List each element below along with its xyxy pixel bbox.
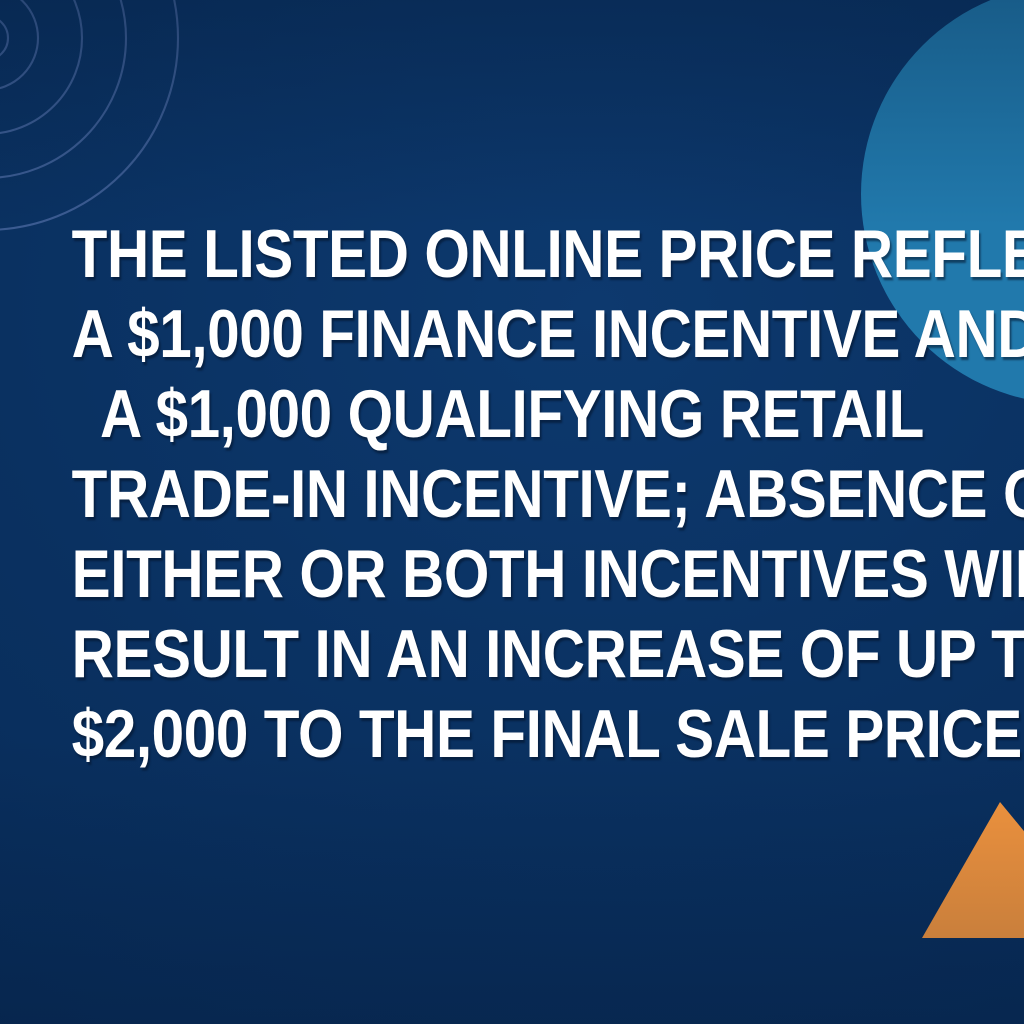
disclaimer-line-2: A $1,000 FINANCE INCENTIVE AND: [72, 294, 953, 374]
disclaimer-line-1: THE LISTED ONLINE PRICE REFLECTS: [72, 214, 953, 294]
disclaimer-line-6: RESULT IN AN INCREASE OF UP TO: [72, 614, 953, 694]
disclaimer-line-7: $2,000 TO THE FINAL SALE PRICE.: [72, 694, 953, 774]
accent-triangle-decoration: [922, 800, 1024, 938]
disclaimer-headline: THE LISTED ONLINE PRICE REFLECTS A $1,00…: [72, 214, 953, 774]
disclaimer-line-4: TRADE-IN INCENTIVE; ABSENCE OF: [72, 454, 953, 534]
disclaimer-line-3: A $1,000 QUALIFYING RETAIL: [72, 374, 953, 454]
disclaimer-graphic: THE LISTED ONLINE PRICE REFLECTS A $1,00…: [0, 0, 1024, 1024]
disclaimer-line-5: EITHER OR BOTH INCENTIVES WILL: [72, 534, 953, 614]
